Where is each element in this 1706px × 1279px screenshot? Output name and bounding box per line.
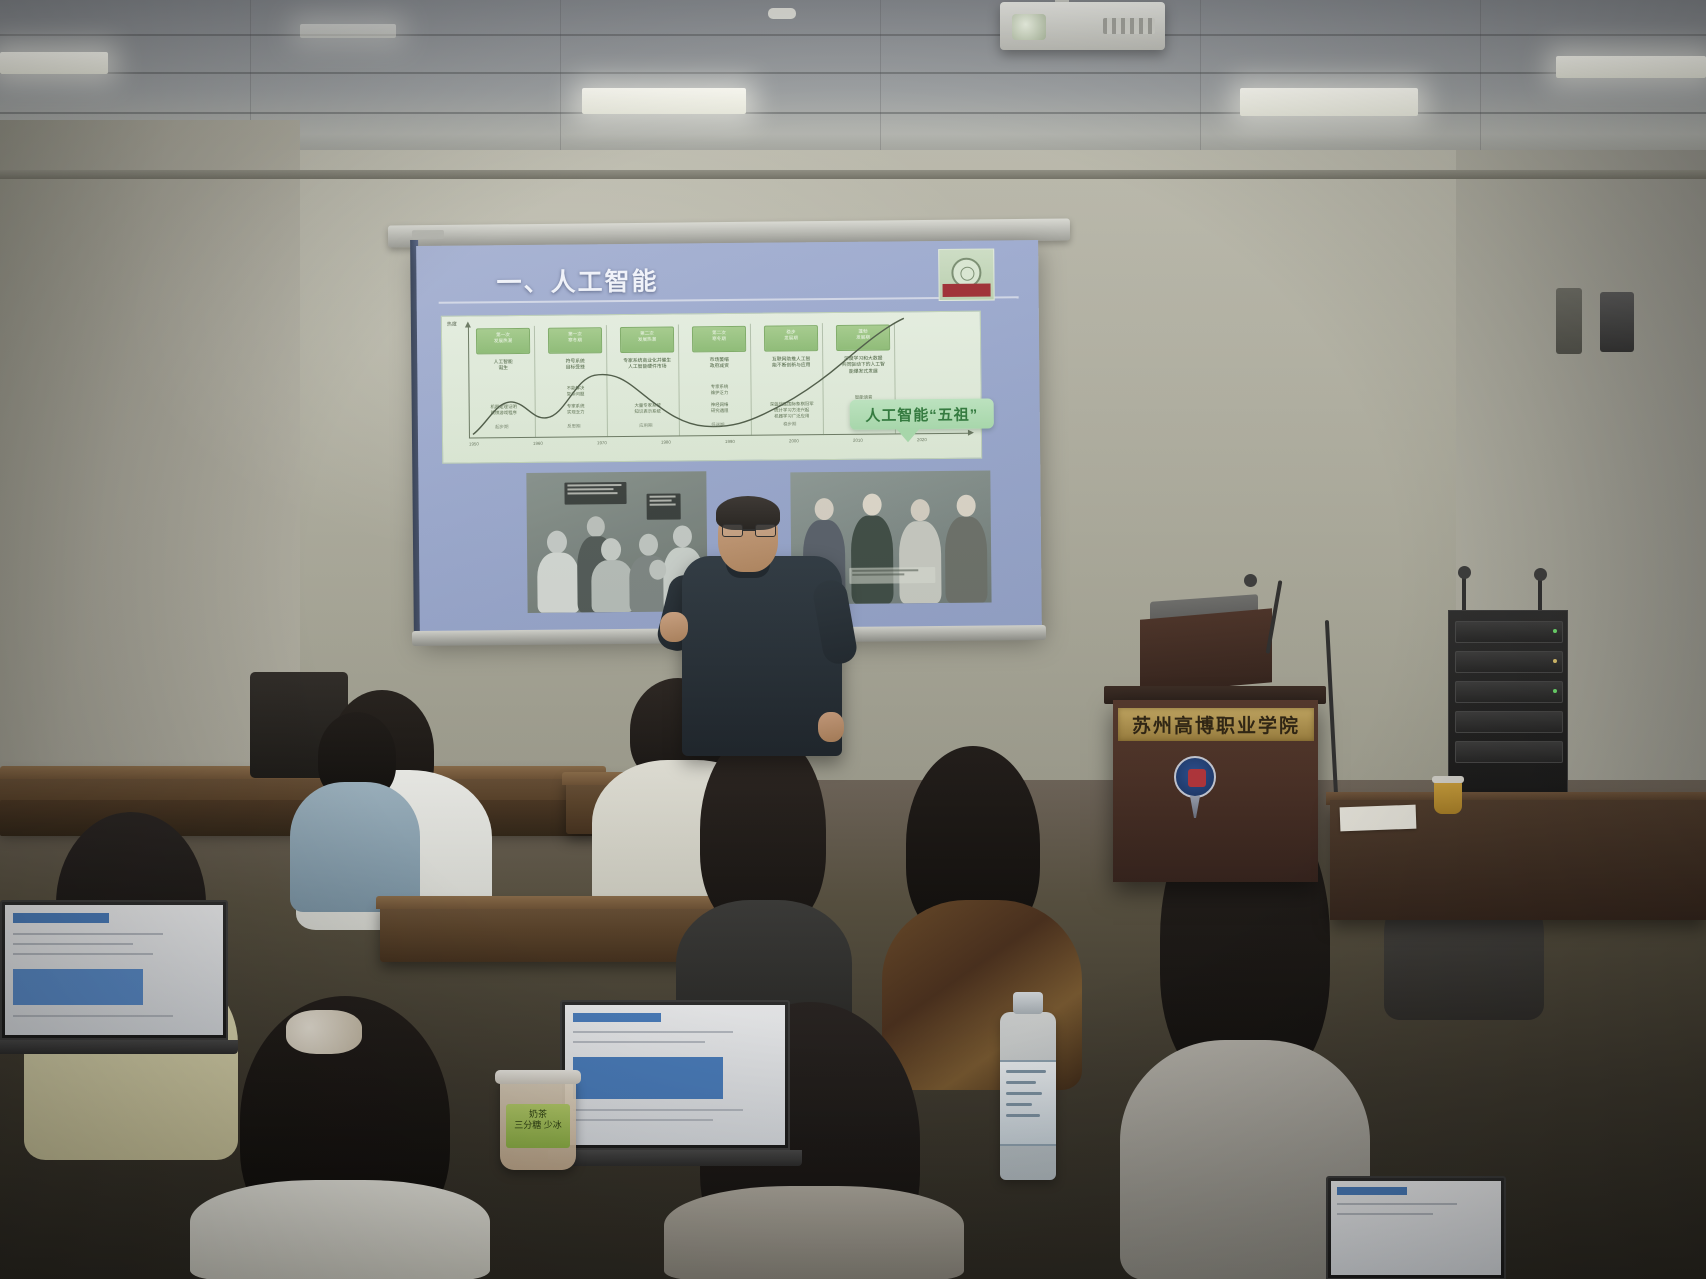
microphone-head-icon [1534, 568, 1547, 581]
chart-x-axis [469, 433, 969, 439]
x-tick-label: 1950 [469, 441, 479, 446]
hair-clip [286, 1010, 362, 1054]
wall-speaker [1556, 288, 1582, 354]
wall-speaker-right [1600, 292, 1634, 352]
status-led [1553, 629, 1557, 633]
water-bottle[interactable] [1000, 1012, 1056, 1180]
podium-desktop [1140, 608, 1272, 694]
ceiling-projector [1000, 2, 1165, 50]
bottle-cap [1013, 992, 1043, 1014]
college-emblem [1168, 756, 1222, 818]
x-tick-label: 2010 [853, 438, 863, 443]
era-box: 稳步发展期 [764, 325, 818, 352]
projector-lens [1012, 14, 1046, 40]
chart-y-axis-label: 热度 [447, 321, 457, 328]
speaker-resting-hand [818, 712, 844, 742]
era-inline-label: 低迷期 [693, 422, 743, 428]
av-equipment-rack [1448, 610, 1568, 810]
era-heading: 深度学习和大数据共同驱动下的人工智能爆发式发展 [832, 356, 894, 376]
era-inline-label: 应用期 [621, 423, 671, 429]
era-subtext: 深蓝战胜国际象棋冠军统计学习方法兴起机器学习广泛应用 [761, 401, 823, 420]
emblem-shield-icon [1174, 756, 1216, 798]
era-inline-label: 起步期 [477, 424, 527, 430]
paper-sheet[interactable] [1340, 805, 1417, 832]
status-led [1553, 689, 1557, 693]
era-heading: 专家系统商业化并催生人工智能硬件市场 [616, 358, 678, 372]
x-tick-label: 1960 [533, 441, 543, 446]
era-subtext: 专家系统实现乏力 [545, 403, 607, 416]
ceiling-light [300, 24, 396, 38]
era-subtext: 神经网络研究遇阻 [689, 402, 751, 415]
cup-label: 奶茶三分糖 少冰 [506, 1104, 570, 1148]
era-box: 第二次发展热潮 [620, 327, 674, 354]
era-subtext: 专家系统维护乏力 [688, 384, 750, 397]
microphone-head-icon [1244, 574, 1257, 587]
seal-nameplate [943, 283, 991, 296]
era-subtext: 机器定理证明跳棋游戏程序 [473, 404, 535, 417]
chart-y-axis [468, 326, 470, 438]
cup-lid [495, 1070, 581, 1084]
ceiling-light [1556, 56, 1706, 78]
status-led [1553, 659, 1557, 663]
x-tick-label: 1990 [725, 439, 735, 444]
x-tick-label: 1970 [597, 440, 607, 445]
speaker-gesturing-hand [660, 612, 688, 642]
slide-title: 一、人工智能 [496, 262, 658, 300]
era-subtext: 不能解决复杂问题 [544, 385, 606, 398]
era-subtext: 大量专家系统知识表示系统 [617, 402, 679, 415]
screen-pull-tab[interactable] [412, 230, 444, 239]
lecture-hall-scene: 一、人工智能 热度 第一次发展热潮 第一次寒冬期 第二次发展热潮 第二次寒冬期 … [0, 0, 1706, 1279]
podium-nameplate: 苏州高博职业学院 [1118, 708, 1314, 741]
era-heading: 互联网助推人工智能不断创新与应用 [760, 357, 822, 371]
bubble-tea-cup[interactable]: 奶茶三分糖 少冰 [500, 1078, 576, 1170]
era-heading: 市场萎缩政府减资 [688, 358, 750, 372]
smoke-detector [768, 8, 796, 19]
x-tick-label: 2000 [789, 438, 799, 443]
projector-vent [1103, 18, 1155, 34]
microphone-head-icon [1458, 566, 1471, 579]
era-heading: 人工智能诞生 [472, 360, 534, 374]
ai-five-founders-callout: 人工智能“五祖” [850, 398, 994, 429]
era-box: 第一次发展热潮 [476, 328, 530, 355]
bottle-label [1000, 1060, 1056, 1146]
era-inline-label: 稳步期 [765, 421, 815, 427]
emblem-ribbon [1190, 796, 1200, 818]
desk-surface [376, 896, 744, 909]
eyeglasses-icon [722, 524, 776, 537]
era-inline-label: 反思期 [549, 423, 599, 429]
era-box: 第一次寒冬期 [548, 327, 602, 354]
university-seal-logo [938, 248, 994, 301]
cup-lid [1432, 776, 1464, 783]
tea-cup[interactable] [1434, 780, 1462, 814]
x-tick-label: 1980 [661, 440, 671, 445]
ceiling-light [582, 88, 746, 114]
ceiling-light [1240, 88, 1418, 116]
ceiling-light [0, 52, 108, 74]
era-box: 蓬勃发展期 [836, 324, 890, 351]
era-heading: 符号系统目标受挫 [544, 359, 606, 373]
era-box: 第二次寒冬期 [692, 326, 746, 353]
